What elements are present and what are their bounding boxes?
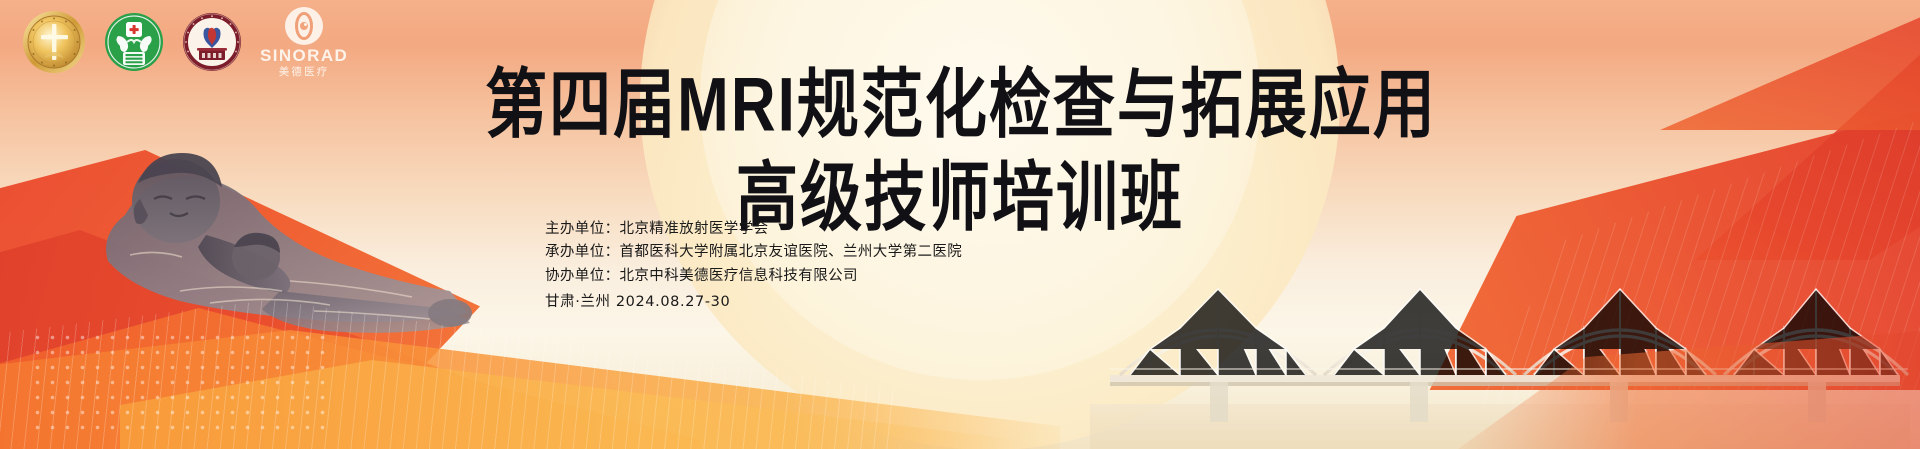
banner-title-block: 第四届MRI规范化检查与拓展应用 高级技师培训班 (0, 62, 1920, 227)
organizer-logo-row: SINORAD 美德医疗 (22, 6, 348, 78)
coorganizer-organization-line: 协办单位：北京中科美德医疗信息科技有限公司 (545, 265, 962, 288)
host-organization-line: 主办单位：北京精准放射医学学会 (545, 218, 962, 241)
gold-seal-logo (22, 10, 86, 74)
beijing-friendship-hospital-logo (104, 12, 164, 72)
sinorad-eye-mark-icon (284, 6, 324, 46)
sinorad-chinese-label: 美德医疗 (279, 67, 330, 78)
capital-medical-university-logo (182, 12, 242, 72)
conference-banner: SINORAD 美德医疗 第四届MRI规范化检查与拓展应用 高级技师培训班 主办… (0, 0, 1920, 449)
organizer-organization-line: 承办单位：首都医科大学附属北京友谊医院、兰州大学第二医院 (545, 241, 962, 264)
date-location-line: 甘肃·兰州 2024.08.27-30 (545, 291, 962, 314)
sinorad-logo: SINORAD 美德医疗 (260, 6, 348, 78)
dot-texture (30, 330, 330, 440)
organizer-info-block: 主办单位：北京精准放射医学学会 承办单位：首都医科大学附属北京友谊医院、兰州大学… (545, 218, 962, 315)
right-bottom-glow (1430, 329, 1920, 449)
sinorad-wordmark: SINORAD (260, 47, 348, 64)
